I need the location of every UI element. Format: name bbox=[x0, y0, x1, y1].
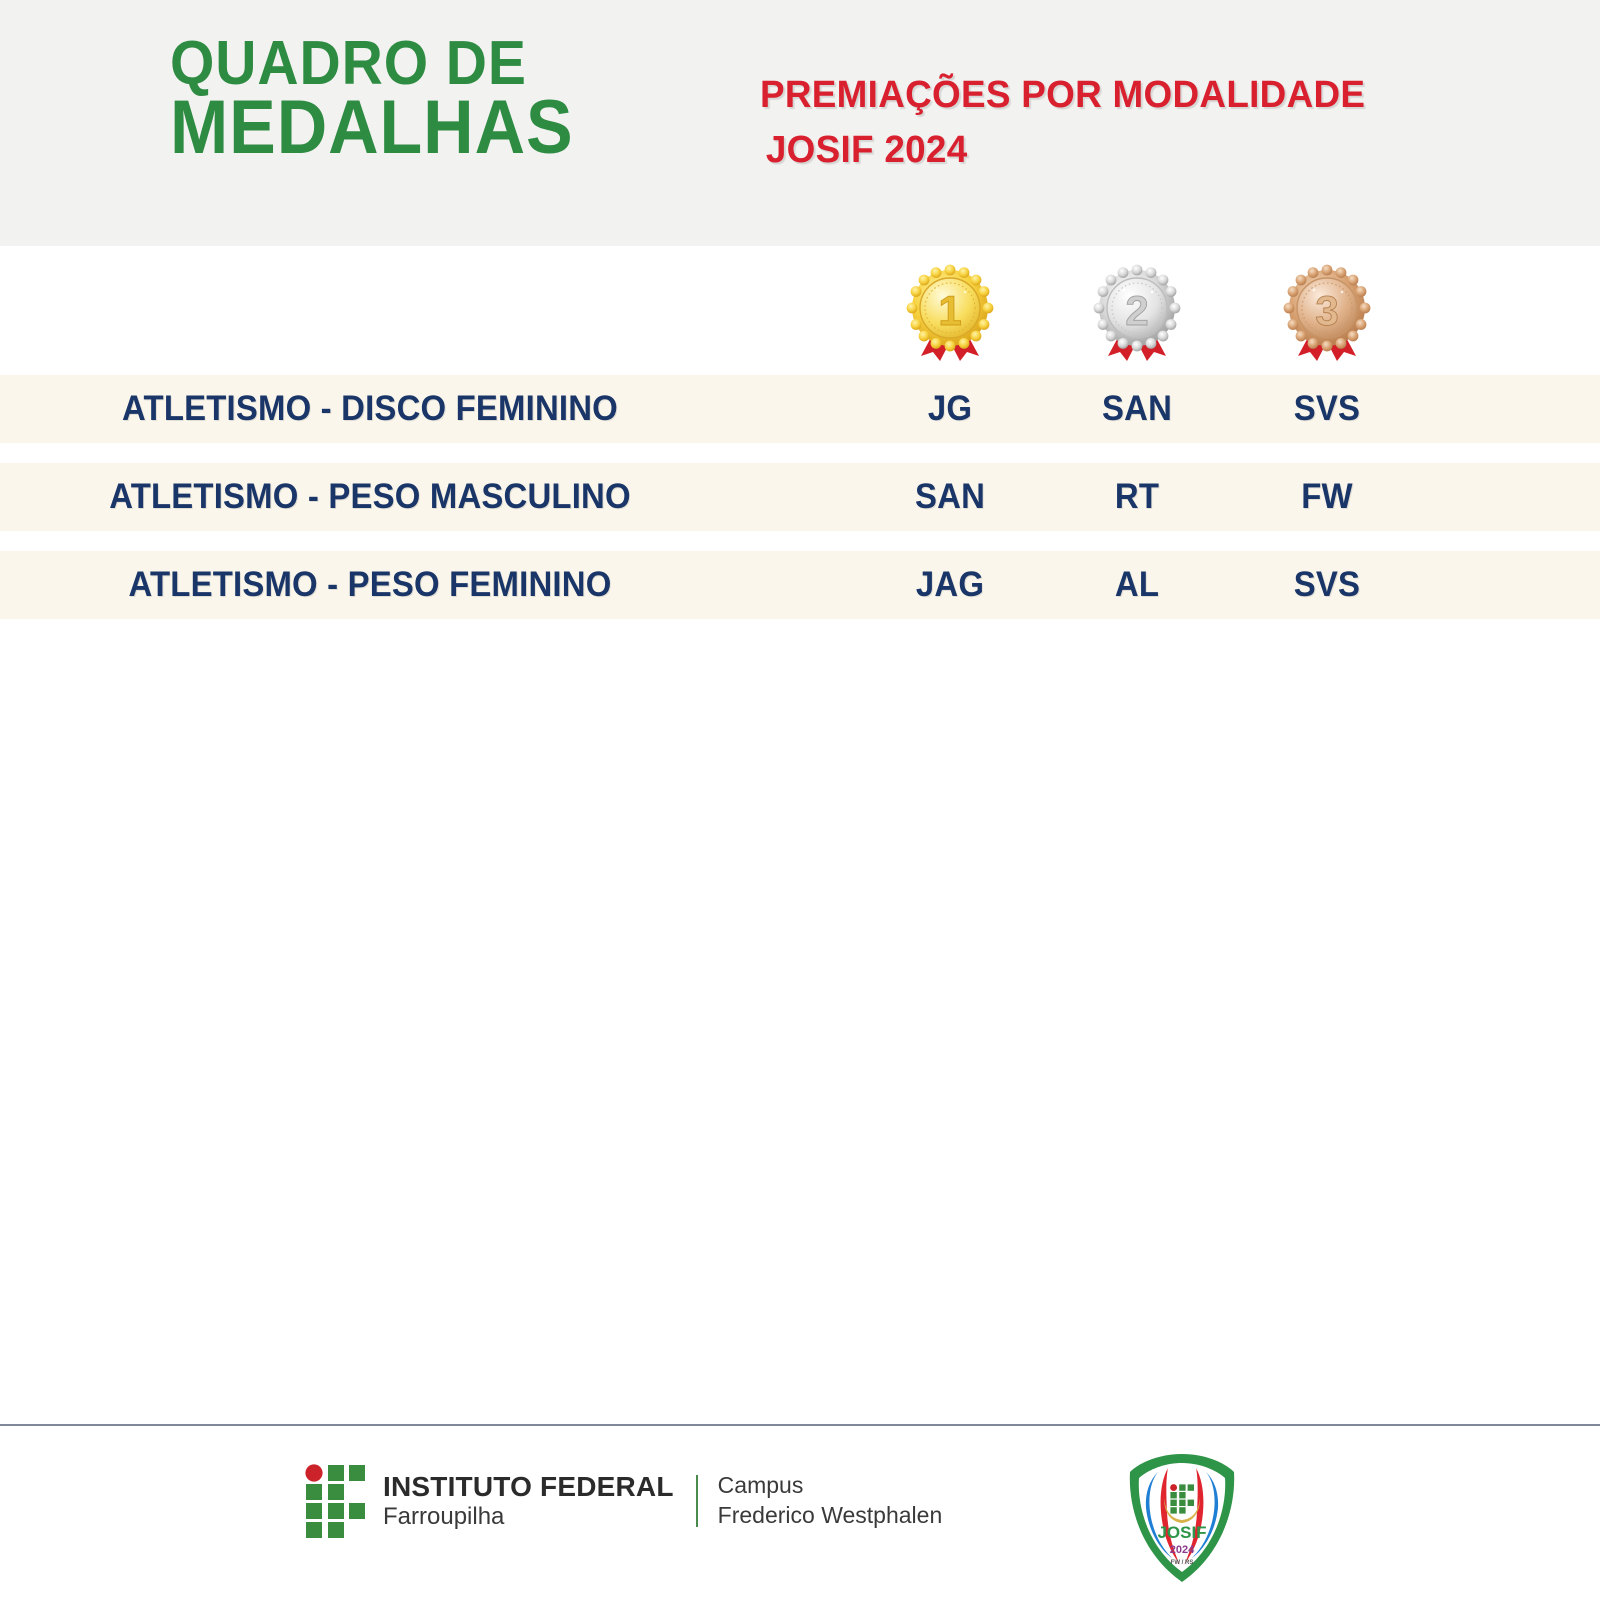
table-row: ATLETISMO - PESO FEMININO JAG AL SVS bbox=[0, 551, 1600, 619]
if-name: INSTITUTO FEDERAL bbox=[383, 1472, 674, 1503]
gold-medal-icon: 1 bbox=[895, 262, 1005, 362]
page-subtitle-line-2: JOSIF 2024 bbox=[760, 123, 1365, 178]
row-modality: ATLETISMO - PESO FEMININO bbox=[22, 551, 718, 619]
row-modality: ATLETISMO - PESO MASCULINO bbox=[22, 463, 718, 531]
campus-label: Campus bbox=[718, 1471, 943, 1501]
josif-shield-name: JOSIF bbox=[1157, 1523, 1206, 1542]
josif-shield-location: FW / RS bbox=[1171, 1560, 1194, 1566]
footer: INSTITUTO FEDERAL Farroupilha Campus Fre… bbox=[0, 1426, 1600, 1600]
row-silver-team: SAN bbox=[1071, 375, 1203, 443]
table-row: ATLETISMO - DISCO FEMININO JG SAN SVS bbox=[0, 375, 1600, 443]
table-column-headers: 1 bbox=[0, 246, 1600, 375]
if-wordmark: INSTITUTO FEDERAL Farroupilha bbox=[383, 1472, 674, 1530]
page-subtitle: PREMIAÇÕES POR MODALIDADE JOSIF 2024 bbox=[760, 68, 1384, 178]
row-silver-team: RT bbox=[1071, 463, 1203, 531]
logo-divider bbox=[696, 1475, 698, 1527]
bronze-medal-icon: 3 bbox=[1272, 262, 1382, 362]
medal-table: ATLETISMO - DISCO FEMININO JG SAN SVS AT… bbox=[0, 375, 1600, 639]
campus-block: Campus Frederico Westphalen bbox=[718, 1471, 943, 1531]
row-modality: ATLETISMO - DISCO FEMININO bbox=[22, 375, 718, 443]
page-subtitle-line-1: PREMIAÇÕES POR MODALIDADE bbox=[760, 68, 1365, 123]
campus-name: Frederico Westphalen bbox=[718, 1501, 943, 1531]
row-bronze-team: SVS bbox=[1261, 375, 1393, 443]
instituto-federal-logo: INSTITUTO FEDERAL Farroupilha Campus Fre… bbox=[305, 1464, 942, 1538]
silver-medal-icon: 2 bbox=[1082, 262, 1192, 362]
table-row: ATLETISMO - PESO MASCULINO SAN RT FW bbox=[0, 463, 1600, 531]
page-title-line-2: MEDALHAS bbox=[170, 96, 648, 160]
row-gold-team: JAG bbox=[884, 551, 1016, 619]
page-title-line-1: QUADRO DE bbox=[170, 38, 648, 90]
svg-text:1: 1 bbox=[938, 287, 961, 334]
if-unit: Farroupilha bbox=[383, 1503, 674, 1531]
if-mark-icon bbox=[305, 1464, 369, 1538]
row-bronze-team: SVS bbox=[1261, 551, 1393, 619]
svg-text:3: 3 bbox=[1315, 287, 1338, 334]
row-bronze-team: FW bbox=[1261, 463, 1393, 531]
svg-text:2: 2 bbox=[1125, 287, 1148, 334]
josif-shield-year: 2024 bbox=[1170, 1544, 1195, 1556]
row-gold-team: SAN bbox=[884, 463, 1016, 531]
row-silver-team: AL bbox=[1071, 551, 1203, 619]
josif-shield-logo: JOSIF 2024 FW / RS bbox=[1118, 1448, 1246, 1588]
page-title: QUADRO DE MEDALHAS bbox=[170, 38, 690, 160]
row-gold-team: JG bbox=[884, 375, 1016, 443]
